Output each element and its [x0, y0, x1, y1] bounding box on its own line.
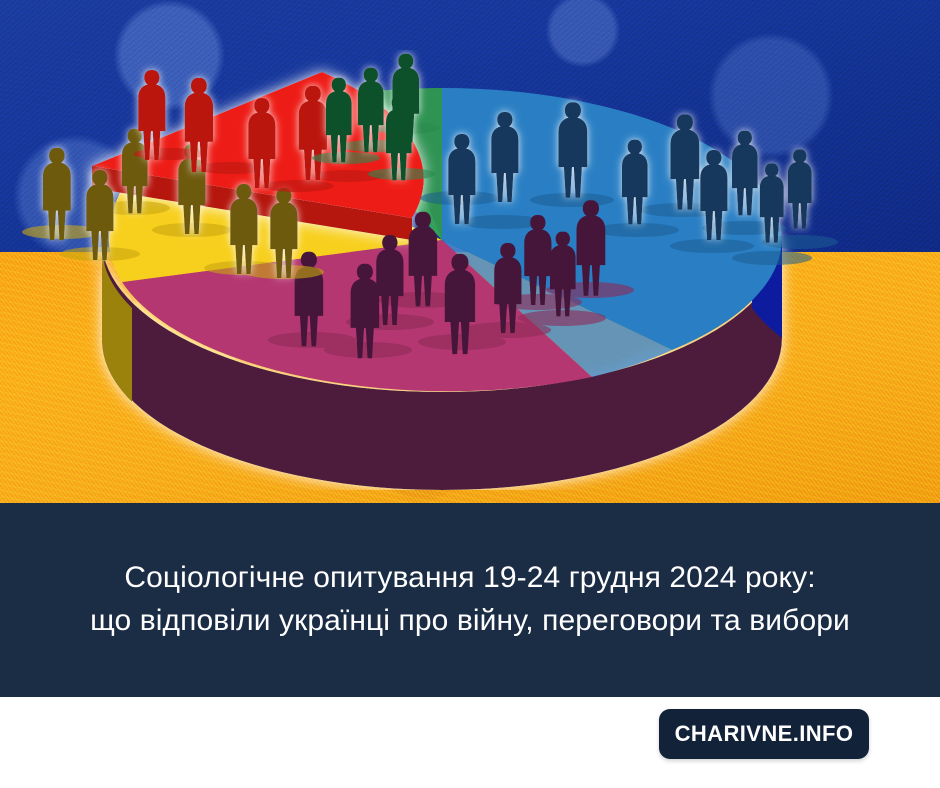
pie-chart-3d: [0, 50, 902, 490]
title-line-1: Соціологічне опитування 19-24 грудня 202…: [124, 557, 815, 600]
title-banner: Соціологічне опитування 19-24 грудня 202…: [0, 503, 940, 697]
site-logo-label: CHARIVNE.INFO: [675, 721, 854, 747]
title-line-2: що відповіли українці про війну, перегов…: [90, 600, 850, 643]
site-logo-badge[interactable]: CHARIVNE.INFO: [659, 709, 869, 759]
hero-illustration: [0, 0, 940, 503]
pie-chart-svg: [0, 50, 902, 490]
poster-page: Соціологічне опитування 19-24 грудня 202…: [0, 0, 940, 788]
